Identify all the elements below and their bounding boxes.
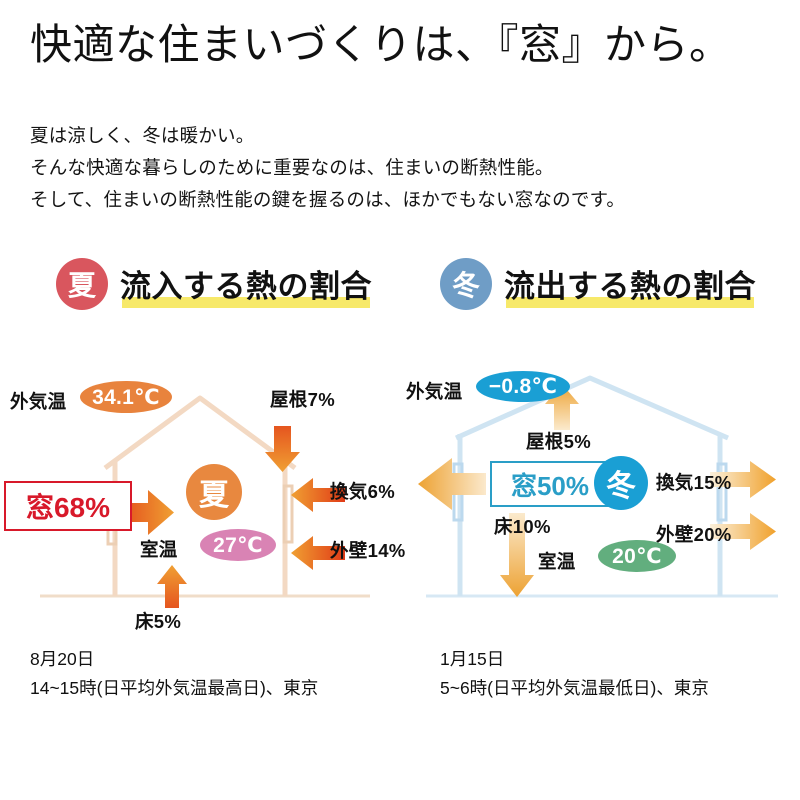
- infographic-page: 快適な住まいづくりは、『窓』から。 夏は涼しく、冬は暖かい。 そんな快適な暮らし…: [0, 0, 800, 800]
- summer-window-key-box: 窓68%: [4, 481, 132, 531]
- section-title-summer: 夏 流入する熱の割合: [56, 258, 372, 310]
- winter-caption-line-2: 5~6時(日平均外気温最低日)、東京: [440, 674, 709, 703]
- summer-heading-text: 流入する熱の割合: [120, 269, 372, 304]
- summer-floor-label: 床5%: [135, 608, 181, 634]
- right-window-mark: [284, 486, 292, 542]
- summer-roof-label: 屋根7%: [270, 386, 335, 412]
- winter-house-diagram: 外気温 −0.8℃ 屋根5% 窓50% 冬 換気15% 外壁20% 床10% 室…: [398, 368, 798, 628]
- winter-heading: 流出する熱の割合: [504, 261, 756, 308]
- summer-caption-line-2: 14~15時(日平均外気温最高日)、東京: [30, 674, 318, 703]
- summer-season-mark: 夏: [186, 464, 242, 520]
- winter-outside-temp-value: −0.8℃: [476, 371, 570, 402]
- summer-heading: 流入する熱の割合: [120, 261, 372, 308]
- winter-exterior-wall-label: 外壁20%: [656, 521, 732, 547]
- winter-caption: 1月15日 5~6時(日平均外気温最低日)、東京: [440, 645, 709, 703]
- winter-roof-label: 屋根5%: [526, 428, 591, 454]
- winter-outside-temp-label: 外気温: [406, 378, 462, 404]
- winter-season-badge: 冬: [440, 258, 492, 310]
- winter-floor-label: 床10%: [494, 513, 551, 539]
- page-title: 快適な住まいづくりは、『窓』から。: [30, 20, 732, 70]
- intro-line-1: 夏は涼しく、冬は暖かい。: [30, 120, 625, 152]
- summer-outside-temp-label: 外気温: [10, 388, 66, 414]
- intro-line-3: そして、住まいの断熱性能の鍵を握るのは、ほかでもない窓なのです。: [30, 184, 625, 216]
- intro-paragraph: 夏は涼しく、冬は暖かい。 そんな快適な暮らしのために重要なのは、住まいの断熱性能…: [30, 120, 625, 217]
- section-title-winter: 冬 流出する熱の割合: [440, 258, 756, 310]
- summer-exterior-wall-label: 外壁14%: [330, 537, 406, 563]
- summer-season-badge: 夏: [56, 258, 108, 310]
- summer-outside-temp-value: 34.1℃: [80, 381, 172, 413]
- summer-house-diagram: 外気温 34.1℃ 屋根7% 窓68% 夏 換気6% 外壁14% 室温 27℃ …: [0, 368, 400, 628]
- winter-caption-line-1: 1月15日: [440, 645, 709, 674]
- summer-inside-temp-label: 室温: [140, 536, 178, 562]
- summer-ventilation-label: 換気6%: [330, 478, 395, 504]
- winter-season-mark: 冬: [594, 456, 648, 510]
- winter-ventilation-label: 換気15%: [656, 469, 732, 495]
- winter-heading-text: 流出する熱の割合: [504, 269, 756, 304]
- window-arrow: [418, 458, 486, 510]
- summer-inside-temp-value: 27℃: [200, 529, 276, 561]
- summer-caption: 8月20日 14~15時(日平均外気温最高日)、東京: [30, 645, 318, 703]
- floor-arrow: [157, 565, 187, 608]
- intro-line-2: そんな快適な暮らしのために重要なのは、住まいの断熱性能。: [30, 152, 625, 184]
- winter-inside-temp-label: 室温: [538, 548, 576, 574]
- winter-window-key-box: 窓50%: [490, 461, 610, 507]
- winter-inside-temp-value: 20℃: [598, 540, 676, 572]
- summer-caption-line-1: 8月20日: [30, 645, 318, 674]
